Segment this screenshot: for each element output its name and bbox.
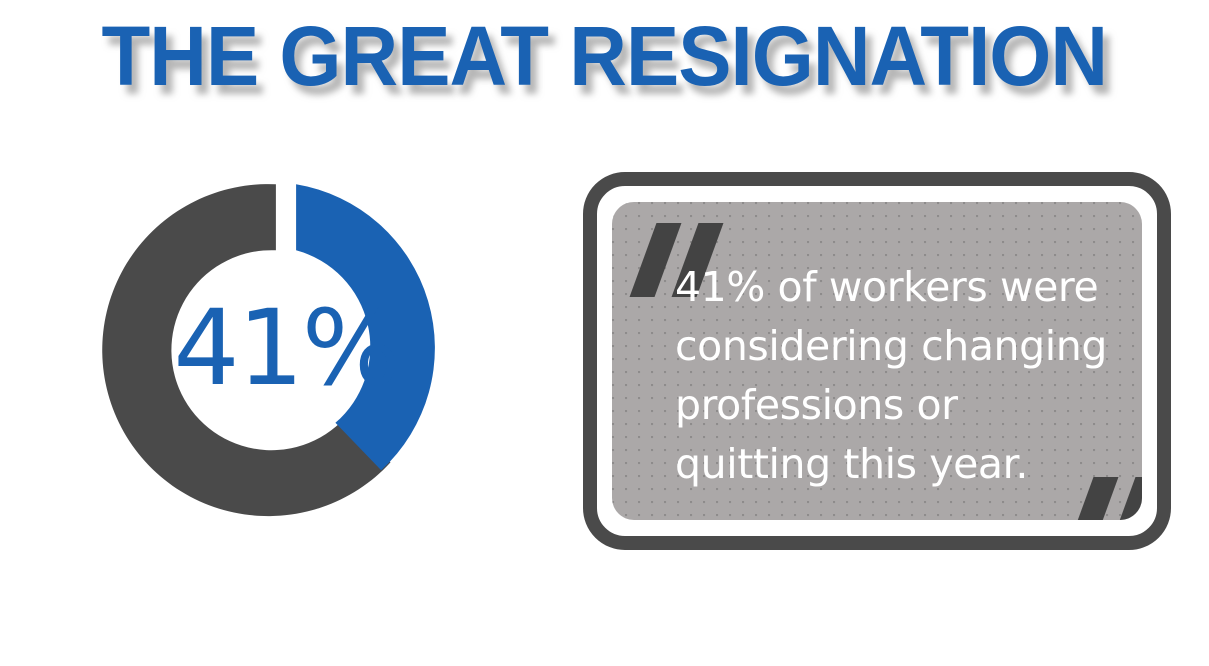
donut-chart: 41% bbox=[86, 150, 486, 550]
donut-center-value: 41% bbox=[86, 150, 486, 550]
quote-card: 41% of workers were considering changing… bbox=[583, 172, 1171, 550]
quote-open-bar-1 bbox=[630, 223, 682, 297]
quote-text: 41% of workers were considering changing… bbox=[675, 258, 1116, 494]
quote-panel: 41% of workers were considering changing… bbox=[612, 202, 1142, 520]
page-title: THE GREAT RESIGNATION bbox=[0, 14, 1209, 98]
headline-text: THE GREAT RESIGNATION bbox=[102, 14, 1108, 98]
